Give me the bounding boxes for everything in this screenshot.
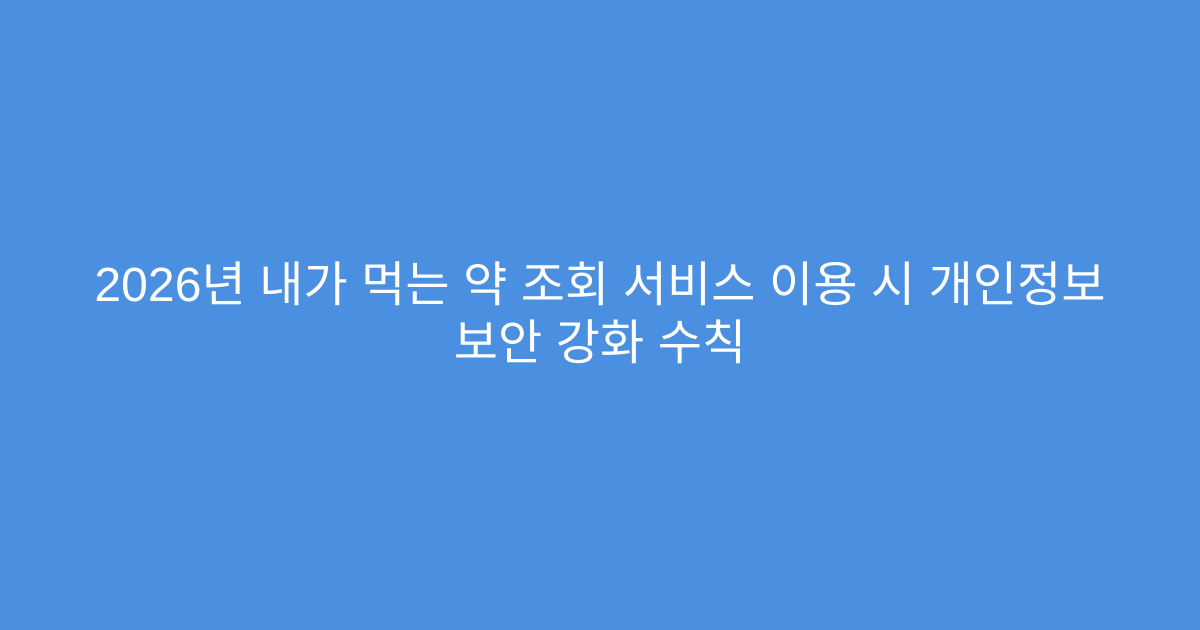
page-title: 2026년 내가 먹는 약 조회 서비스 이용 시 개인정보 보안 강화 수칙	[50, 257, 1150, 373]
title-block: 2026년 내가 먹는 약 조회 서비스 이용 시 개인정보 보안 강화 수칙	[50, 257, 1150, 373]
og-card: 2026년 내가 먹는 약 조회 서비스 이용 시 개인정보 보안 강화 수칙	[0, 0, 1200, 630]
